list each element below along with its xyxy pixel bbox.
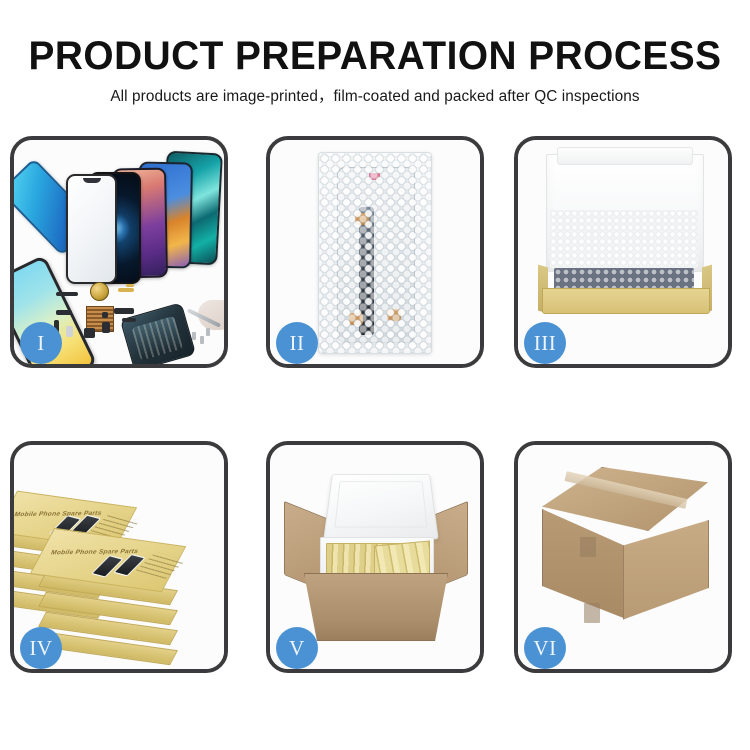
screw-2 <box>200 336 204 344</box>
speaker-component <box>90 282 109 301</box>
bubble-texture-layer-2 <box>319 153 431 353</box>
bubble-wrap-bag <box>318 152 432 354</box>
step-badge-3: III <box>524 322 566 364</box>
process-step-panel-1: I <box>10 136 228 368</box>
carton-front-body <box>304 573 448 641</box>
kraft-tray-front-wall <box>542 288 710 314</box>
flex-cable-part-3 <box>56 310 72 315</box>
process-step-panel-3: III <box>514 136 732 368</box>
process-step-panel-4: Mobile Phone Spare Parts Mobile Phone Sp… <box>10 441 228 673</box>
page-title: PRODUCT PREPARATION PROCESS <box>11 34 739 79</box>
process-step-panel-2: II <box>266 136 484 368</box>
process-step-grid: I II <box>10 136 740 686</box>
screw-3 <box>206 328 210 336</box>
box-label-text-front: Mobile Phone Spare Parts <box>50 548 139 556</box>
flex-cable-part-6 <box>122 318 136 322</box>
stacked-box-scene: Mobile Phone Spare Parts Mobile Phone Sp… <box>20 465 224 655</box>
header: PRODUCT PREPARATION PROCESS All products… <box>0 0 750 128</box>
flex-cable-part-2 <box>126 284 134 287</box>
box-spec-lines-front <box>136 552 186 579</box>
screw-1 <box>192 332 196 340</box>
carton-right-face <box>623 520 709 626</box>
step-badge-1: I <box>20 322 62 364</box>
earpiece-mesh-part <box>56 292 78 296</box>
carton-flap-tab-bottom <box>584 603 600 623</box>
process-step-panel-6: VI <box>514 441 732 673</box>
page-subtitle: All products are image-printed，film-coat… <box>4 84 747 106</box>
step-badge-4: IV <box>20 627 62 669</box>
step-badge-2: II <box>276 322 318 364</box>
process-step-panel-5: V <box>266 441 484 673</box>
flex-cable-part-1 <box>118 288 134 292</box>
flex-cable-part-5 <box>114 308 134 314</box>
step-badge-6: VI <box>524 627 566 669</box>
carton-flap-tab-top <box>580 537 596 557</box>
small-chip-part <box>102 312 108 318</box>
phone-front-glass-panel <box>66 174 117 284</box>
step-badge-5: V <box>276 627 318 669</box>
camera-module-part <box>84 328 95 338</box>
white-foam-sheet <box>550 210 698 268</box>
sim-tray-part <box>66 326 73 337</box>
vibrator-motor-part <box>102 322 110 333</box>
foam-insert-lid <box>323 474 438 539</box>
